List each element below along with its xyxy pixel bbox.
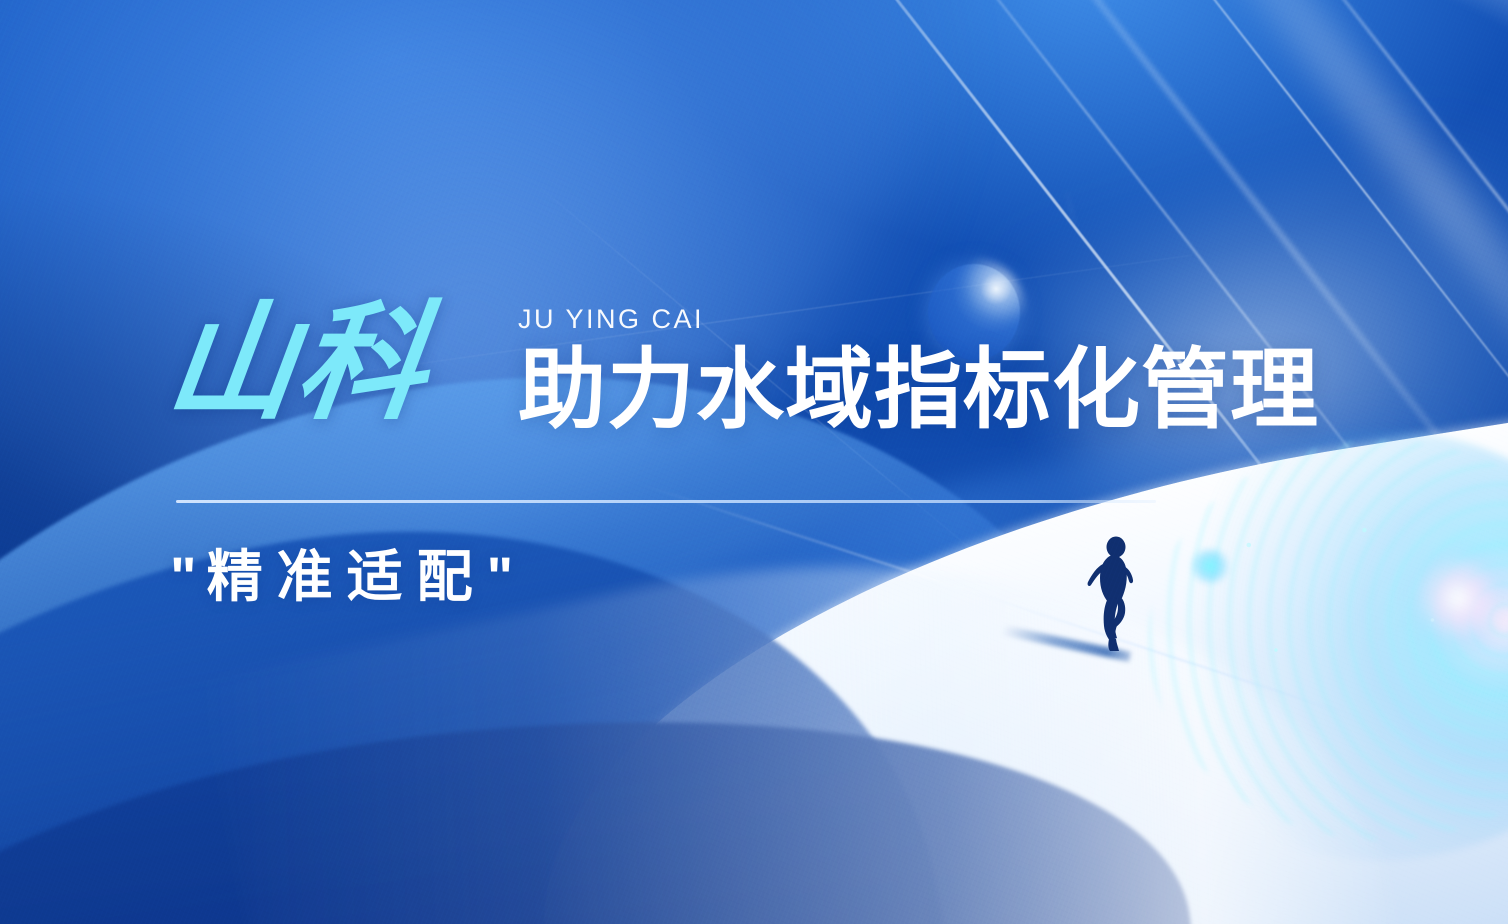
horizontal-divider xyxy=(176,500,1156,503)
tagline-text: 精准适配 xyxy=(207,545,487,608)
promotional-banner: 山科 JU YING CAI 助力水域指标化管理 "精准适配" xyxy=(0,0,1508,924)
tagline-open-quote: " xyxy=(170,545,207,608)
tagline-close-quote: " xyxy=(487,545,524,608)
headline-column: JU YING CAI 助力水域指标化管理 xyxy=(518,306,1319,435)
tagline: "精准适配" xyxy=(170,542,523,612)
headline-text: 助力水域指标化管理 xyxy=(518,345,1319,435)
brand-pinyin: JU YING CAI xyxy=(518,306,1319,333)
brand-row: 山科 xyxy=(168,300,428,428)
banner-content: 山科 JU YING CAI 助力水域指标化管理 "精准适配" xyxy=(0,0,1508,924)
brand-name: 山科 xyxy=(160,300,436,428)
